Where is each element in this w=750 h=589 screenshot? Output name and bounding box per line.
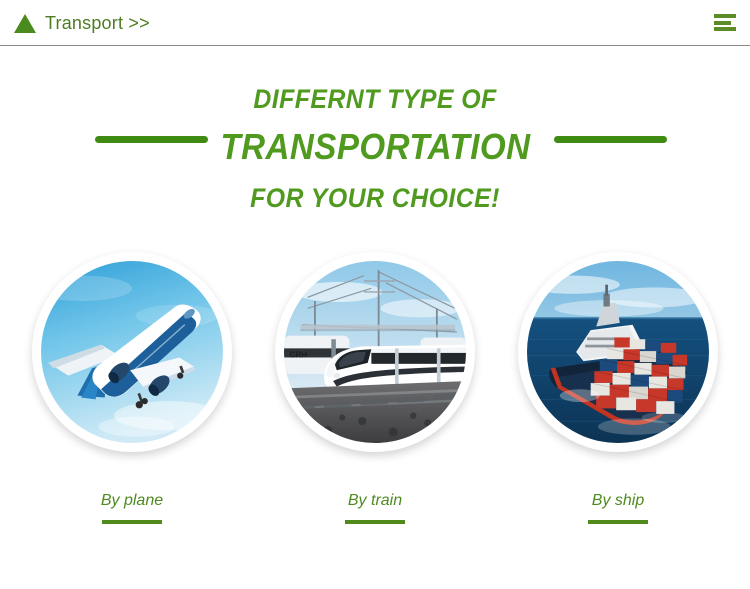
page-title: Transport >> bbox=[45, 13, 150, 34]
transport-page: Transport >> DIFFERNT TYPE OF TRANSPORTA… bbox=[0, 0, 750, 589]
card-caption-ship: By ship bbox=[592, 492, 644, 510]
heading-block: DIFFERNT TYPE OF TRANSPORTATION FOR YOUR… bbox=[0, 72, 750, 212]
hamburger-bar-2 bbox=[714, 21, 731, 25]
airplane-photo bbox=[41, 261, 223, 443]
caption-underline-plane bbox=[102, 520, 162, 524]
decor-dash-left bbox=[95, 136, 208, 143]
circle-frame-plane[interactable] bbox=[32, 252, 232, 452]
page-header: Transport >> bbox=[0, 0, 750, 46]
train-photo: CRH bbox=[284, 261, 466, 443]
circle-frame-ship[interactable] bbox=[518, 252, 718, 452]
caption-underline-train bbox=[345, 520, 405, 524]
transport-card-train[interactable]: CRH bbox=[273, 252, 478, 524]
header-divider bbox=[0, 45, 750, 46]
triangle-up-icon bbox=[14, 14, 36, 33]
card-caption-train: By train bbox=[348, 492, 402, 510]
decor-dash-right bbox=[554, 136, 667, 143]
airplane-illustration bbox=[41, 261, 223, 443]
header-brand[interactable]: Transport >> bbox=[14, 13, 150, 34]
caption-underline-ship bbox=[588, 520, 648, 524]
card-caption-plane: By plane bbox=[101, 492, 163, 510]
heading-line-2-row: TRANSPORTATION bbox=[0, 113, 750, 165]
svg-text:CRH: CRH bbox=[289, 350, 307, 359]
transport-card-list: By plane bbox=[0, 252, 750, 524]
hamburger-menu-icon[interactable] bbox=[714, 14, 736, 31]
transport-card-ship[interactable]: By ship bbox=[516, 252, 721, 524]
hamburger-bar-1 bbox=[714, 14, 736, 18]
heading-line-2: TRANSPORTATION bbox=[220, 113, 530, 165]
heading-line-3: FOR YOUR CHOICE! bbox=[30, 165, 720, 212]
transport-card-plane[interactable]: By plane bbox=[30, 252, 235, 524]
heading-line-1: DIFFERNT TYPE OF bbox=[30, 72, 720, 113]
hamburger-bar-3 bbox=[714, 27, 736, 31]
train-illustration: CRH bbox=[284, 261, 466, 443]
container-ship-illustration bbox=[527, 261, 709, 443]
circle-frame-train[interactable]: CRH bbox=[275, 252, 475, 452]
ship-photo bbox=[527, 261, 709, 443]
